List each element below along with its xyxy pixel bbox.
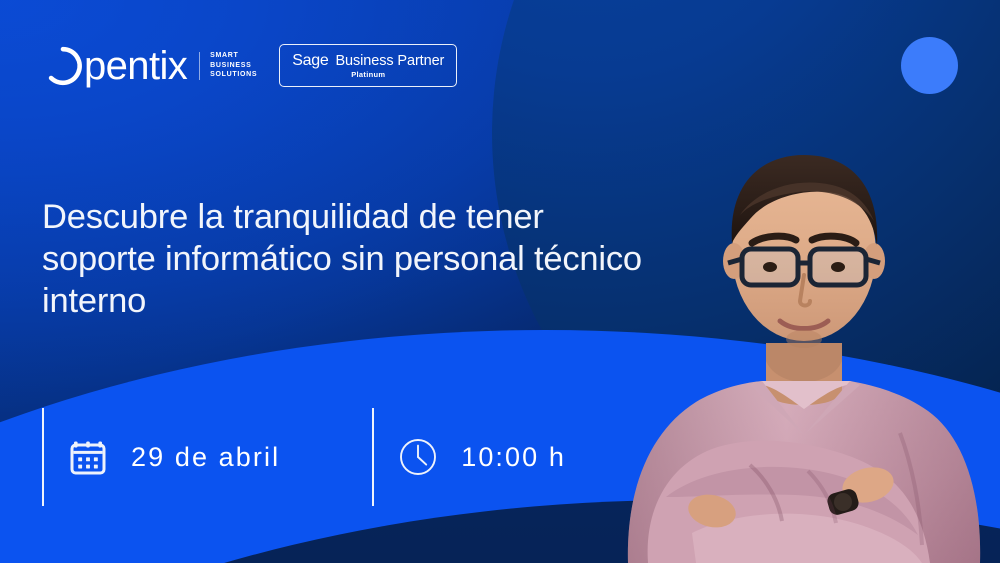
sage-badge-tier: Platinum bbox=[351, 70, 385, 79]
logo-divider bbox=[199, 52, 200, 80]
event-time-label: 10:00 h bbox=[461, 442, 566, 473]
webinar-banner: pentix SMART BUSINESS SOLUTIONS Sage Bus… bbox=[0, 0, 1000, 563]
decorative-accent-dot bbox=[901, 37, 958, 94]
date-divider bbox=[42, 408, 44, 506]
event-meta-row: 29 de abril 10:00 h bbox=[42, 408, 566, 506]
clock-icon bbox=[397, 436, 439, 478]
opentix-wordmark: pentix bbox=[84, 46, 187, 86]
opentix-tagline: SMART BUSINESS SOLUTIONS bbox=[210, 51, 257, 79]
opentix-logo[interactable]: pentix SMART BUSINESS SOLUTIONS bbox=[42, 45, 257, 87]
sage-business-partner-badge[interactable]: Sage Business Partner Platinum bbox=[279, 44, 457, 87]
banner-header: pentix SMART BUSINESS SOLUTIONS Sage Bus… bbox=[42, 44, 457, 87]
speaker-photo bbox=[600, 93, 1000, 563]
sage-badge-main-row: Sage Business Partner bbox=[292, 53, 444, 69]
calendar-icon bbox=[67, 436, 109, 478]
meta-spacer bbox=[280, 408, 372, 506]
sage-badge-title: Business Partner bbox=[335, 53, 444, 69]
page-title: Descubre la tranquilidad de tener soport… bbox=[42, 196, 642, 322]
event-date: 29 de abril bbox=[42, 408, 280, 506]
time-divider bbox=[372, 408, 374, 506]
sage-brand-mark: Sage bbox=[292, 53, 328, 69]
event-date-label: 29 de abril bbox=[131, 442, 280, 473]
opentix-open-ring-icon bbox=[42, 45, 84, 87]
event-time: 10:00 h bbox=[372, 408, 566, 506]
